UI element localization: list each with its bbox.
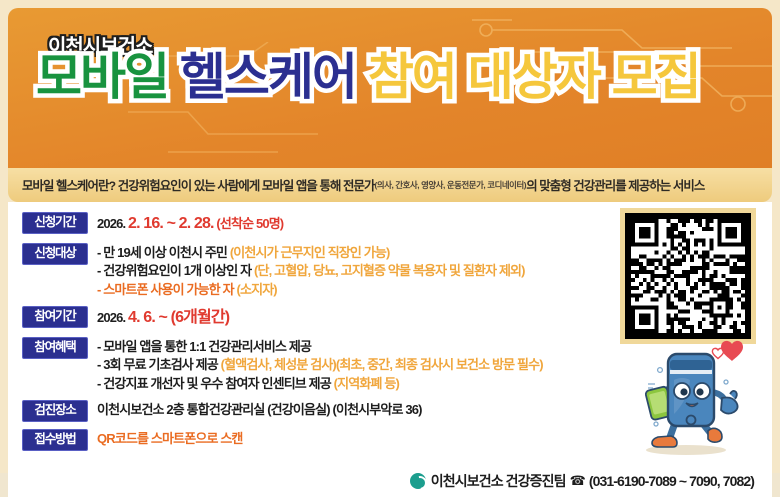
info-text-segment: - 건강위험요인이 1개 이상인 자: [97, 263, 254, 278]
info-text-segment: (지역화폐 등): [334, 376, 399, 391]
info-text-segment: 이천시보건소 2층 통합건강관리실 (건강이음실) (이천시부악로 36): [97, 402, 422, 417]
info-row-badge: 신청대상: [22, 243, 88, 265]
info-row-badge: 참여기간: [22, 306, 88, 328]
info-text-segment: QR코드를 스마트폰으로 스캔: [97, 431, 243, 446]
info-text-segment: - 스마트폰 사용이 가능한 자: [97, 282, 237, 297]
info-text-segment: 4. 6. ~ (6개월간): [128, 309, 229, 326]
info-text-segment: - 건강지표 개선자 및 우수 참여자 인센티브 제공: [97, 376, 334, 391]
info-row-badge: 검진장소: [22, 400, 88, 422]
info-row-badge: 접수방법: [22, 429, 88, 451]
qr-code[interactable]: [620, 208, 756, 344]
info-text-segment: - 만 19세 이상 이천시 주민: [97, 245, 230, 260]
info-text-segment: (선착순 50명): [214, 216, 284, 231]
info-text-segment: - 3회 무료 기초검사 제공: [97, 357, 221, 372]
info-text-segment: (단, 고혈압, 당뇨, 고지혈증 약물 복용자 및 질환자 제외): [254, 263, 525, 278]
title-part-mobile: 모바일: [36, 52, 168, 102]
poster-header: 이천시보건소 모바일 헬스케어 참여 대상자 모집: [8, 8, 772, 168]
qr-code-inner: [625, 213, 751, 339]
phone-icon: ☎: [570, 473, 585, 489]
info-text-segment: (최초, 중간, 최종 검사시 보건소 방문 필수): [336, 357, 543, 372]
page-title: 모바일 헬스케어 참여 대상자 모집: [36, 52, 752, 102]
info-text-segment: 2. 16. ~ 2. 28.: [128, 215, 214, 232]
smartphone-mascot: [620, 336, 752, 458]
footer-phone: (031-6190-7089 ~ 7090, 7082): [589, 473, 754, 489]
info-text-segment: (소지자): [237, 282, 277, 297]
info-row-badge: 신청기간: [22, 212, 88, 234]
poster-footer: 이천시보건소 건강증진팀 ☎ (031-6190-7089 ~ 7090, 70…: [8, 464, 772, 497]
info-text-segment: (이천시가 근무지인 직장인 가능): [230, 245, 390, 260]
subtitle-experts: (의사, 간호사, 영양사, 운동전문가, 코디네이터): [375, 179, 527, 191]
poster-body: 신청기간2026. 2. 16. ~ 2. 28. (선착순 50명)신청대상-…: [8, 202, 772, 464]
health-center-logo-icon: [410, 473, 426, 489]
footer-team: 이천시보건소 건강증진팀: [431, 471, 566, 491]
info-row-badge: 참여혜택: [22, 337, 88, 359]
subtitle-banner: 모바일 헬스케어란? 건강위험요인이 있는 사람에게 모바일 앱을 통해 전문가…: [8, 168, 772, 202]
subtitle-tail: 의 맞춤형 건강관리를 제공하는 서비스: [526, 176, 704, 194]
poster-root: 이천시보건소 모바일 헬스케어 참여 대상자 모집 모바일 헬스케어란? 건강위…: [0, 0, 780, 473]
info-text-segment: 2026.: [97, 216, 128, 231]
info-text-segment: - 모바일 앱을 통한 1:1 건강관리서비스 제공: [97, 339, 311, 354]
info-text-segment: 2026.: [97, 310, 128, 325]
heart-icon: [712, 341, 743, 361]
subtitle-lead: 모바일 헬스케어란? 건강위험요인이 있는 사람에게 모바일 앱을 통해 전문가: [22, 176, 375, 194]
title-part-healthcare: 헬스케어: [180, 52, 356, 102]
qr-code-canvas: [631, 219, 745, 333]
title-part-recruit: 참여 대상자 모집: [368, 52, 700, 102]
info-text-segment: (혈액검사, 체성분 검사): [221, 357, 336, 372]
